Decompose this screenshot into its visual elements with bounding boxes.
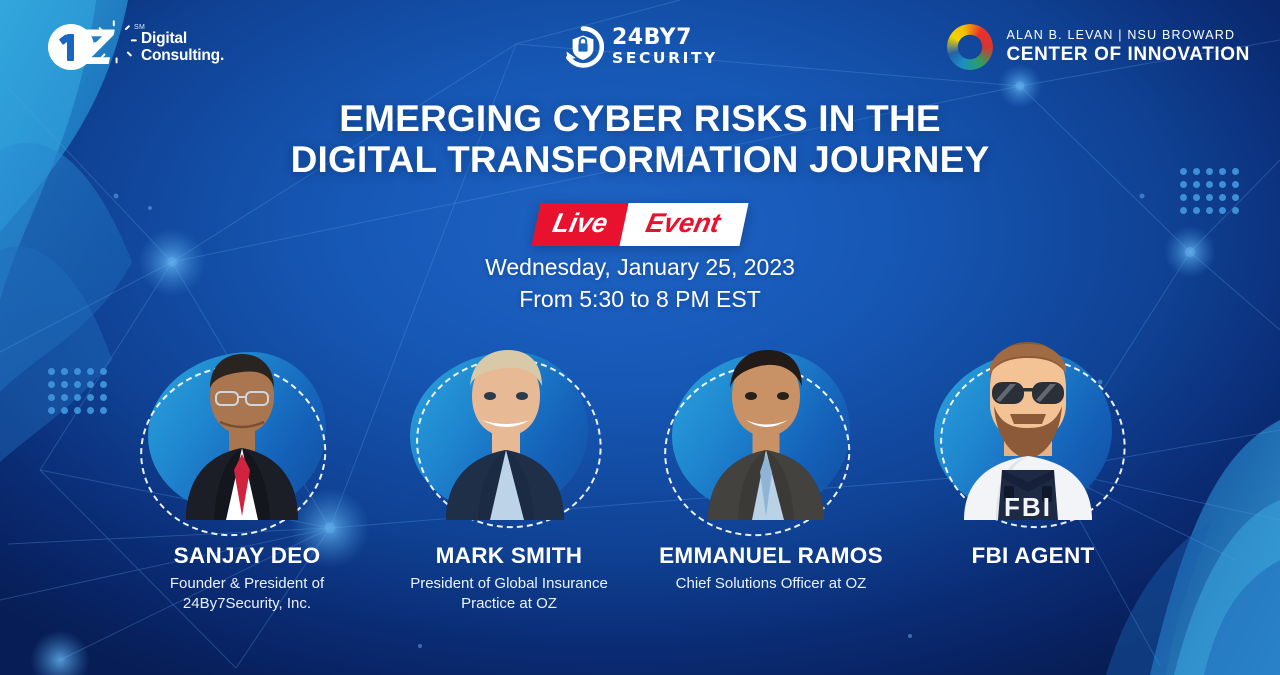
speaker-role-line1: President of Global Insurance [410,574,608,594]
oz-logo-mark: Z SM [48,24,132,70]
speaker-list: SANJAY DEO Founder & President of 24By7S… [0,330,1280,630]
oz-logo-text: Digital Consulting. [141,30,224,65]
speaker-role-line2: Practice at OZ [410,594,608,614]
speaker-portrait [664,330,879,530]
event-date: Wednesday, January 25, 2023 [0,252,1280,284]
speaker-name: EMMANUEL RAMOS [659,543,883,569]
shield-refresh-icon [562,26,604,68]
speaker-card: SANJAY DEO Founder & President of 24By7S… [116,330,378,615]
oz-logo-line1: Digital [141,30,224,47]
speaker-portrait: FBI [926,330,1141,530]
headshot-emmanuel-ramos [682,330,850,520]
badge-live-label: Live [532,203,629,246]
event-datetime: Wednesday, January 25, 2023 From 5:30 to… [0,252,1280,315]
event-title-line2: DIGITAL TRANSFORMATION JOURNEY [0,139,1280,180]
speaker-name: FBI AGENT [971,543,1094,569]
speaker-card: EMMANUEL RAMOS Chief Solutions Officer a… [640,330,902,594]
oz-trademark: SM [134,24,145,31]
event-title-line1: EMERGING CYBER RISKS IN THE [0,98,1280,139]
speaker-card: MARK SMITH President of Global Insurance… [378,330,640,615]
svg-text:FBI: FBI [1004,492,1052,520]
headshot-sanjay-deo [158,330,326,520]
levan-logo-line2: CENTER OF INNOVATION [1006,44,1250,66]
speaker-name: MARK SMITH [436,543,583,569]
speaker-card: FBI FBI AGENT [902,330,1164,574]
levan-logo-line1: ALAN B. LEVAN | NSU BROWARD [1006,28,1250,42]
24by7-logo-text: 24BY7 SECURITY [612,27,718,67]
speaker-role: Chief Solutions Officer at OZ [676,574,867,594]
oz-logo-line2: Consulting. [141,47,224,64]
headshot-mark-smith [420,330,588,520]
24by7-logo-line1: 24BY7 [612,27,718,49]
header-logos: Z SM Digital Consulting. [0,0,1280,92]
logo-levan-center-of-innovation[interactable]: ALAN B. LEVAN | NSU BROWARD CENTER OF IN… [947,24,1250,70]
event-title: EMERGING CYBER RISKS IN THE DIGITAL TRAN… [0,98,1280,181]
24by7-logo-line2: SECURITY [612,51,718,67]
speaker-role-line1: Chief Solutions Officer at OZ [676,574,867,594]
event-flyer: Z SM Digital Consulting. [0,0,1280,675]
speaker-portrait [140,330,355,530]
multicolor-ring-icon [947,24,993,70]
illustration-fbi-agent: FBI [944,330,1112,520]
speaker-role: President of Global Insurance Practice a… [410,574,608,615]
speaker-role: Founder & President of 24By7Security, In… [170,574,324,615]
badge-event-label: Event [620,203,749,246]
logo-oz-digital-consulting[interactable]: Z SM Digital Consulting. [48,24,224,70]
speaker-role-line1: Founder & President of [170,574,324,594]
sunburst-icon [103,23,125,45]
speaker-portrait [402,330,617,530]
speaker-role-line2: 24By7Security, Inc. [170,594,324,614]
levan-logo-text: ALAN B. LEVAN | NSU BROWARD CENTER OF IN… [1006,28,1250,66]
live-event-badge: Live Event [532,203,749,246]
speaker-name: SANJAY DEO [174,543,321,569]
logo-24by7security[interactable]: 24BY7 SECURITY [562,26,718,68]
event-time: From 5:30 to 8 PM EST [0,284,1280,316]
